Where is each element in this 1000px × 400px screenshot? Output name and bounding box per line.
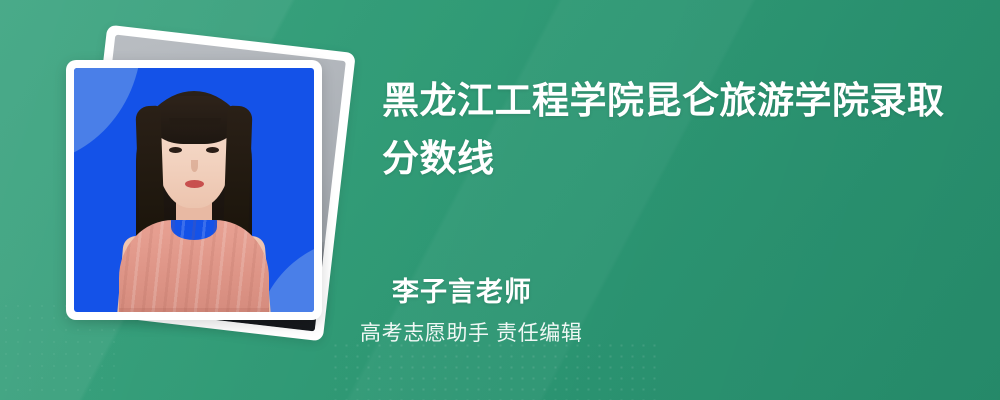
- banner-text-column: 黑龙江工程学院昆仑旅游学院录取分数线 李子言老师 高考志愿助手 责任编辑: [358, 0, 988, 400]
- mouth: [185, 180, 204, 188]
- author-portrait-photo: [74, 68, 314, 312]
- torso-dress: [119, 220, 269, 312]
- author-role: 高考志愿助手 责任编辑: [360, 317, 582, 347]
- dress-stripe-texture: [119, 220, 269, 312]
- author-name: 李子言老师: [392, 270, 532, 309]
- author-photo-stack: [0, 0, 360, 400]
- eye-left: [169, 147, 182, 153]
- article-banner: 黑龙江工程学院昆仑旅游学院录取分数线 李子言老师 高考志愿助手 责任编辑: [0, 0, 1000, 400]
- dress-waistline: [119, 308, 269, 312]
- page-title: 黑龙江工程学院昆仑旅游学院录取分数线: [382, 72, 978, 188]
- page-title-line-1: 黑龙江工程学院昆仑旅游学院录取: [382, 80, 945, 121]
- photo-card-front: [66, 60, 322, 320]
- eye-right: [206, 147, 219, 153]
- hair-fringe: [151, 96, 237, 144]
- portrait-figure: [74, 68, 314, 312]
- page-title-line-2: 分数线: [382, 138, 495, 179]
- nose: [191, 160, 198, 172]
